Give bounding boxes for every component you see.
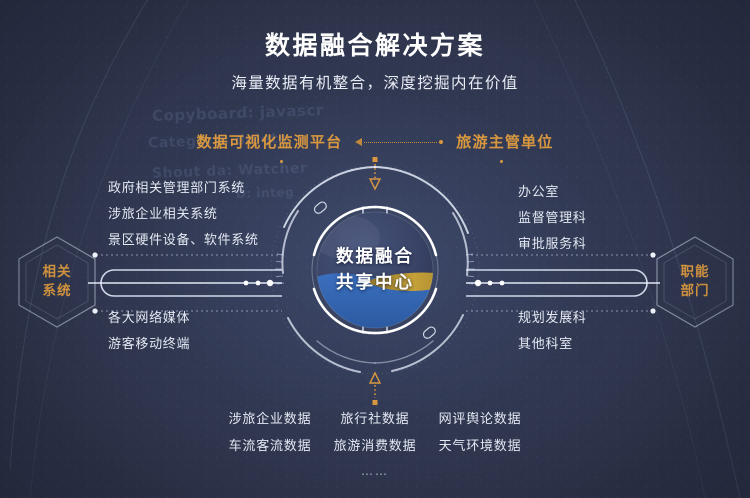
infographic-canvas: Copyboard: javascr Category: delete Shou… [0,0,750,498]
vignette-overlay [0,0,750,498]
